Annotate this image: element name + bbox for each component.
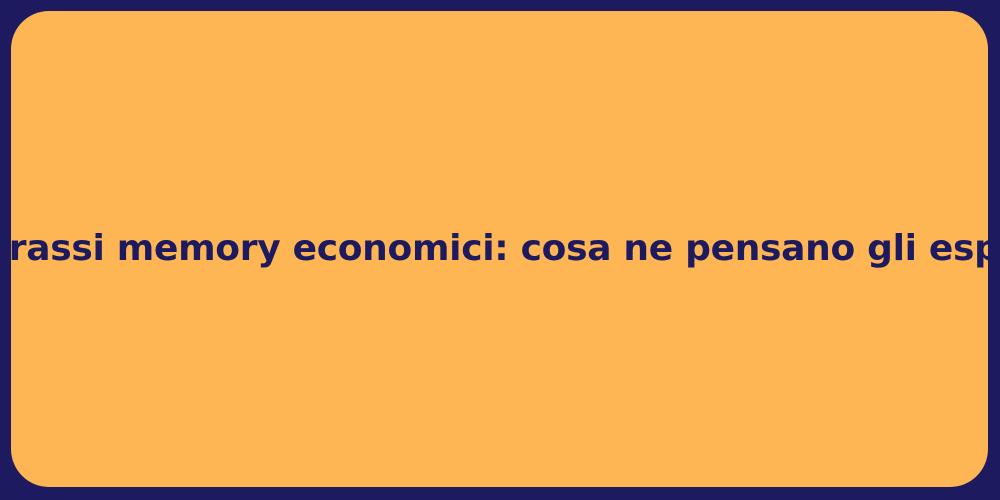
card-panel: Materassi memory economici: cosa ne pens… [11, 11, 988, 487]
card-frame: Materassi memory economici: cosa ne pens… [0, 0, 1000, 500]
page-title: Materassi memory economici: cosa ne pens… [0, 228, 1000, 269]
